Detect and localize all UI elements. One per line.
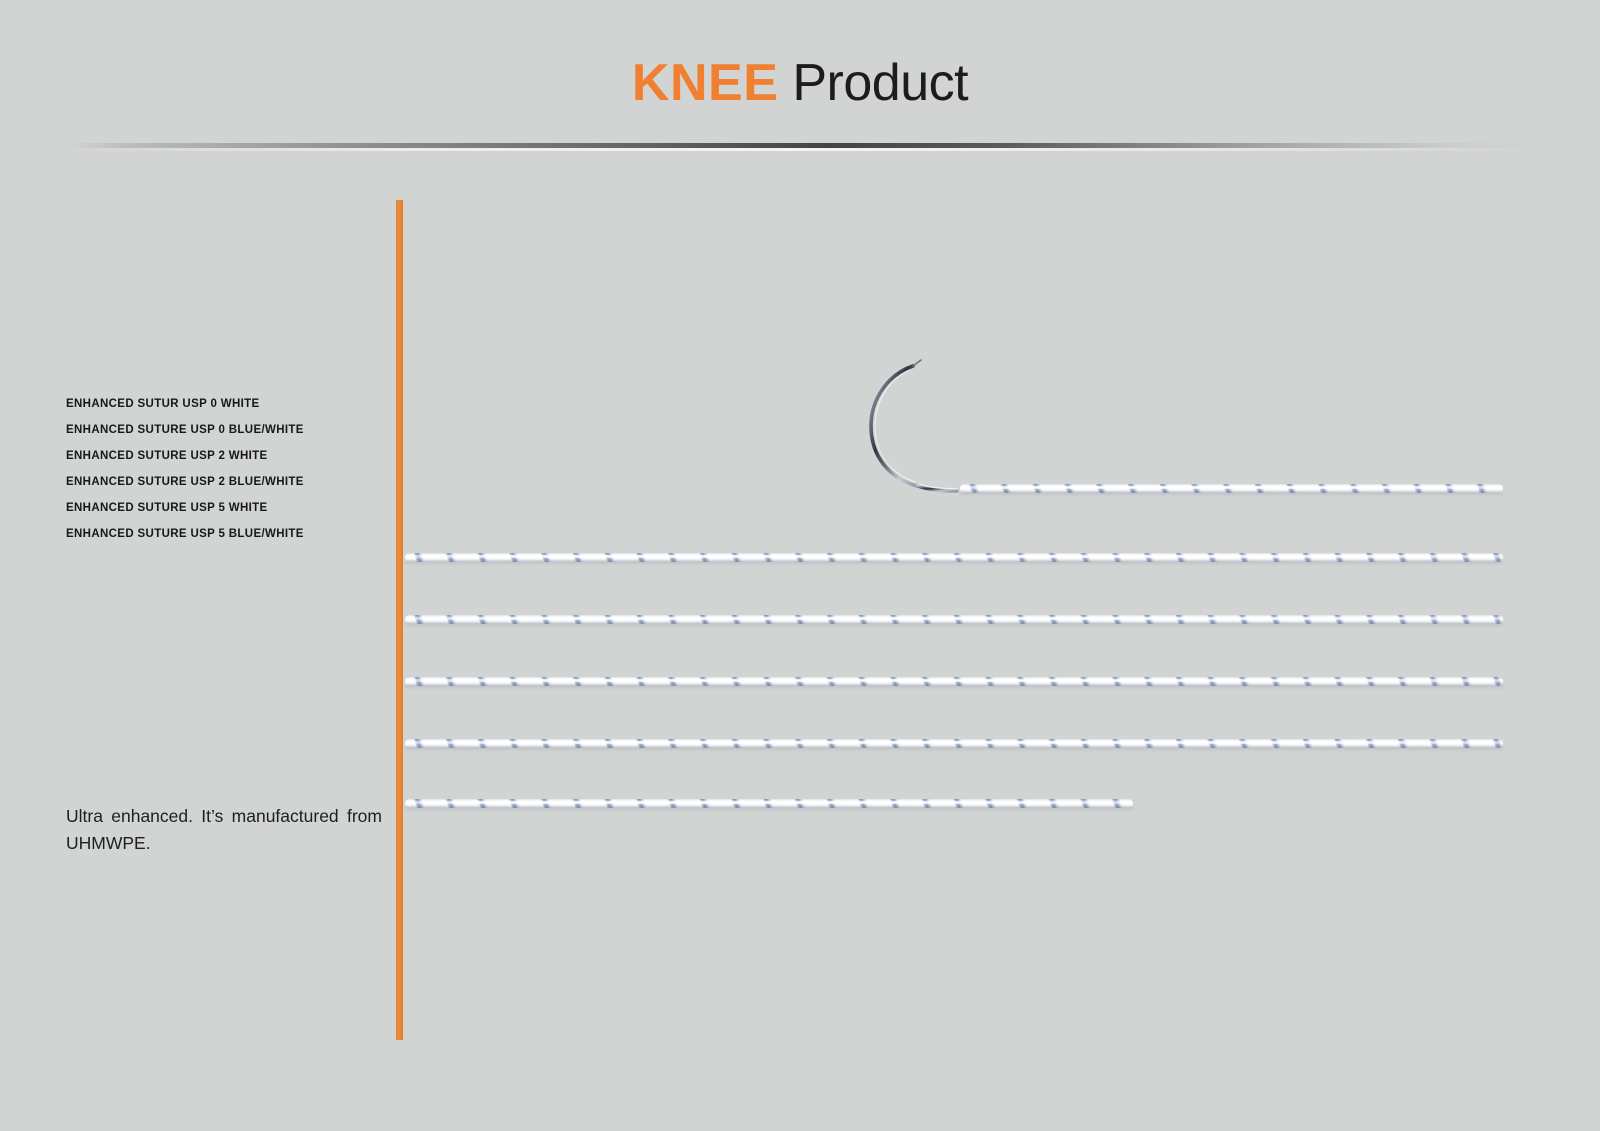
spec-item: ENHANCED SUTURE USP 2 WHITE	[66, 443, 376, 469]
suture-strand-shadow	[405, 807, 1133, 811]
suture-strand-shadow	[405, 685, 1503, 689]
suture-strand-1	[960, 484, 1503, 493]
suture-strand-3	[405, 615, 1503, 624]
spec-item: ENHANCED SUTUR USP 0 WHITE	[66, 391, 376, 417]
suture-strand-shadow	[405, 747, 1503, 751]
product-description: Ultra enhanced. It’s manufactured from U…	[66, 803, 382, 857]
spec-item: ENHANCED SUTURE USP 2 BLUE/WHITE	[66, 469, 376, 495]
page-title: KNEE Product	[0, 52, 1600, 114]
curved-surgical-needle	[845, 352, 995, 502]
suture-strand-4	[405, 677, 1503, 686]
description-line-1: Ultra enhanced. It’s manufactured	[66, 806, 339, 826]
vertical-accent-divider	[396, 200, 403, 1040]
product-spec-list: ENHANCED SUTUR USP 0 WHITE ENHANCED SUTU…	[66, 391, 376, 547]
suture-strand-shadow	[960, 492, 1503, 496]
spec-item: ENHANCED SUTURE USP 5 WHITE	[66, 495, 376, 521]
suture-strand-5	[405, 739, 1503, 748]
page-title-highlight: KNEE	[632, 54, 778, 112]
suture-strand-2	[405, 553, 1503, 562]
title-underline-sheen	[70, 148, 1530, 151]
suture-strand-6	[405, 799, 1133, 808]
page-title-rest: Product	[778, 54, 968, 112]
spec-item: ENHANCED SUTURE USP 5 BLUE/WHITE	[66, 521, 376, 547]
suture-strand-shadow	[405, 623, 1503, 627]
product-illustration	[0, 0, 1600, 1131]
suture-strand-shadow	[405, 561, 1503, 565]
spec-item: ENHANCED SUTURE USP 0 BLUE/WHITE	[66, 417, 376, 443]
